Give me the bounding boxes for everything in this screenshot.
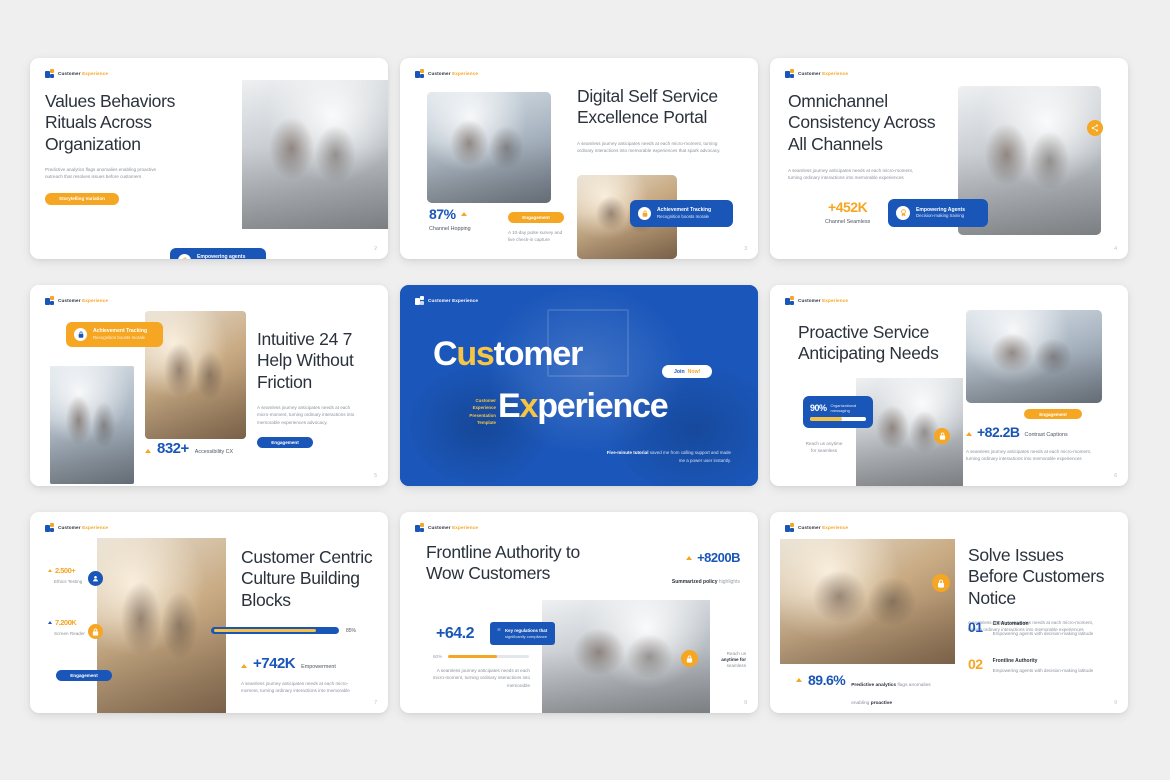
logo-word-customer: Customer [58, 71, 81, 76]
slide-title: Intuitive 24 7 Help Without Friction [257, 329, 372, 393]
stat-value: +452K [825, 199, 870, 215]
logo-word-experience: Experience [452, 525, 478, 530]
list-title: CX Automation [993, 621, 1094, 627]
lock-icon [74, 328, 87, 341]
progress-row: 85% [211, 627, 356, 634]
logo-mark-icon [785, 296, 794, 305]
stat-summarized-policy: +8200B Summarized policy highlights [672, 550, 740, 588]
list-number: 01 [968, 620, 983, 634]
cover-headline-line2: Experience [498, 390, 667, 422]
achievement-tracking-card[interactable]: Achievement Tracking Recognition boosts … [66, 322, 163, 347]
trend-up-icon [48, 569, 52, 572]
page-number: 4 [1114, 246, 1117, 252]
page-number: 6 [1114, 473, 1117, 479]
logo-word-experience: Experience [82, 298, 108, 303]
stat-value: 832+ [157, 440, 189, 457]
logo-word-customer: Customer [58, 298, 81, 303]
headline2-part-3: perience [537, 387, 667, 425]
stat-label-bold: Summarized policy [672, 579, 718, 585]
logo-mark-icon [415, 523, 424, 532]
slide-digital-self-service[interactable]: Customer Experience Digital Self Service… [400, 58, 758, 259]
card-title: Empowering Agents [916, 207, 965, 214]
stat-label: Channel Seamless [825, 219, 870, 225]
logo-word-experience: Experience [822, 298, 848, 303]
list-desc: Empowering agents with decision-making l… [993, 630, 1094, 637]
side-line-0: Customer [458, 397, 496, 404]
slide-cover[interactable]: Customer Experience Customer Experience … [400, 285, 758, 486]
card-title: Achievement Tracking [657, 207, 711, 214]
logo-word-customer: Customer [798, 525, 821, 530]
lock-icon[interactable] [88, 624, 103, 639]
progress-percent: 85% [346, 628, 356, 634]
stat-value-main: +64.2 [436, 625, 474, 643]
stat-value: 87% [429, 206, 456, 222]
logo-word-experience: Experience [452, 71, 478, 76]
logo-word-customer: Customer [58, 525, 81, 530]
key-regulations-card[interactable]: “ Key regulations that significantly com… [490, 622, 555, 645]
slide-photo-secondary [50, 366, 134, 484]
engagement-button[interactable]: Engagement [257, 437, 313, 448]
logo-mark-icon [45, 296, 54, 305]
lock-icon[interactable] [932, 574, 950, 592]
stat-label-bold2: proactive [871, 701, 892, 706]
brand-logo: Customer Experience [415, 69, 478, 78]
progress-bar [810, 417, 866, 420]
share-icon[interactable] [1087, 120, 1103, 136]
slide-photo-top [966, 310, 1102, 403]
card-title: Key regulations that [505, 628, 547, 634]
award-icon [896, 206, 910, 220]
slide-photo-primary [427, 92, 551, 203]
brand-logo: Customer Experience [785, 523, 848, 532]
brand-logo: Customer Experience [45, 69, 108, 78]
stat-channel-hopping: 87% Channel Hopping [429, 206, 471, 232]
join-now-button[interactable]: Join Now! [662, 365, 712, 378]
empowering-agents-card[interactable]: Empowering agents with decision latitude… [170, 248, 266, 259]
stat-label: Contrast Captions [1025, 432, 1068, 438]
headline-part-1: C [433, 335, 456, 373]
list-item[interactable]: 02 Frontline Authority Empowering agents… [968, 657, 1093, 674]
engagement-button[interactable]: Engagement [56, 670, 112, 681]
stat-value: 2.500+ [55, 566, 75, 575]
cover-side-caption: Customer Experience Presentation Templat… [458, 397, 496, 427]
logo-mark-icon [785, 523, 794, 532]
trend-up-icon [461, 212, 467, 216]
slide-title: Proactive Service Anticipating Needs [798, 322, 948, 365]
logo-mark-icon [415, 69, 424, 78]
lock-icon [178, 254, 191, 259]
stat-value: +8200B [697, 550, 740, 565]
slide-body: A seamless journey anticipates needs at … [577, 140, 725, 155]
slide-photo [780, 539, 955, 664]
lock-icon[interactable] [681, 650, 698, 667]
logo-word-experience: Experience [82, 71, 108, 76]
join-accent: Now! [688, 369, 701, 375]
stat-channel-seamless: +452K Channel Seamless [825, 199, 870, 225]
card-subtitle: Recognition boosts morale [93, 335, 147, 341]
logo-word-experience: Experience [82, 525, 108, 530]
user-icon[interactable] [88, 571, 103, 586]
progress-bar [211, 627, 339, 634]
headline2-part-2: x [519, 387, 537, 425]
slide-title: Values Behaviors Rituals Across Organiza… [45, 91, 195, 155]
card-title: Achievement Tracking [93, 328, 147, 335]
stat-label-bold: Predictive analytics [851, 683, 896, 688]
stat-value: 7.200K [55, 618, 76, 627]
logo-mark-icon [785, 69, 794, 78]
trend-up-icon [241, 664, 247, 668]
slide-body: A seamless journey anticipates needs at … [241, 680, 366, 695]
slide-title: Customer Centric Culture Building Blocks [241, 547, 376, 611]
slide-frontline-authority[interactable]: Customer Experience Frontline Authority … [400, 512, 758, 713]
logo-word-customer: Customer [798, 298, 821, 303]
brand-logo: Customer Experience [785, 296, 848, 305]
side-line-2: Presentation [458, 412, 496, 419]
stat-value: +742K [253, 655, 295, 672]
trend-up-icon [145, 449, 151, 453]
slide-grid: Customer Experience Values Behaviors Rit… [0, 0, 1170, 780]
cover-headline-line1: Customer [433, 338, 582, 370]
list-desc: Empowering agents with decision-making l… [993, 667, 1094, 674]
page-number: 9 [1114, 700, 1117, 706]
card-percent: 90% [810, 403, 827, 413]
logo-word-customer: Customer [798, 71, 821, 76]
engagement-pill[interactable]: Engagement [1024, 409, 1082, 419]
join-label: Join [674, 369, 685, 375]
footer-rest: saved me from calling support and made m… [648, 450, 731, 462]
list-item[interactable]: 01 CX Automation Empowering agents with … [968, 620, 1093, 637]
stat-label: Accessibility CX [195, 449, 233, 455]
stat-value: 89.6% [808, 672, 845, 688]
slide-title: Frontline Authority to Wow Customers [426, 542, 606, 585]
side-note-line-3: seamless [710, 662, 746, 669]
trend-up-icon [686, 556, 692, 560]
brand-logo: Customer Experience [45, 523, 108, 532]
logo-word-customer: Customer [428, 525, 451, 530]
page-number: 3 [744, 246, 747, 252]
logo-word-experience: Experience [822, 71, 848, 76]
engagement-pill[interactable]: Engagement [508, 212, 564, 223]
side-line-3: Template [458, 419, 496, 426]
slide-solve-issues[interactable]: Customer Experience Solve Issues Before … [770, 512, 1128, 713]
lock-icon[interactable] [934, 428, 950, 444]
brand-logo: Customer Experience [415, 296, 478, 305]
brand-logo: Customer Experience [45, 296, 108, 305]
logo-mark-icon [45, 523, 54, 532]
storytelling-button[interactable]: Storytelling Variation [45, 193, 119, 205]
stat-label-rest: highlights [717, 579, 740, 585]
headline-part-3: tomer [494, 335, 582, 373]
page-number: 8 [744, 700, 747, 706]
logo-mark-icon [415, 296, 424, 305]
logo-word-experience: Experience [822, 525, 848, 530]
progress-row: 60% [433, 654, 529, 659]
list-number: 02 [968, 657, 983, 671]
side-note: Reach us anytime for seamless [710, 650, 746, 670]
slide-photo [97, 538, 226, 713]
slide-proactive-service[interactable]: Customer Experience Proactive Service An… [770, 285, 1128, 486]
stat-contrast-captions: +82.2B Contrast Captions [966, 424, 1068, 440]
stat-empowerment: +742K Empowerment [241, 655, 336, 672]
slide-note-left: Reach us anytime for seamless [803, 440, 845, 455]
side-line-1: Experience [458, 404, 496, 411]
progress-percent: 60% [433, 654, 442, 659]
list-title: Frontline Authority [993, 658, 1094, 664]
quote-icon: “ [497, 628, 501, 636]
slide-title: Digital Self Service Excellence Portal [577, 86, 732, 129]
card-subtitle: messaging [831, 408, 857, 413]
brand-logo: Customer Experience [785, 69, 848, 78]
empowering-agents-card[interactable]: Empowering Agents Decision-making traini… [888, 199, 988, 227]
card-subtitle: Recognition boosts morale [657, 214, 711, 220]
slide-title: Omnichannel Consistency Across All Chann… [788, 91, 950, 155]
slide-photo [242, 80, 388, 229]
slide-body: A seamless journey anticipates needs at … [430, 667, 530, 689]
stat-label: Channel Hopping [429, 226, 471, 232]
headline2-part-1: E [498, 387, 519, 425]
slide-body: A seamless journey anticipates needs at … [257, 404, 357, 426]
trend-up-icon [796, 678, 802, 682]
stat-label: Empowerment [301, 664, 336, 670]
slide-note: A 10-day pulse survey and live check-in … [508, 229, 568, 244]
cover-footer-quote: Five-minute tutorial saved me from calli… [606, 449, 731, 464]
slide-body: A seamless journey anticipates needs at … [788, 167, 918, 182]
card-subtitle: Decision-making training [916, 213, 965, 219]
logo-word-customer: Customer [428, 71, 451, 76]
side-note-line-1: Reach us [710, 650, 746, 657]
slide-intuitive-help[interactable]: Customer Experience Achievement Tracking… [30, 285, 388, 486]
stat-value: +82.2B [977, 424, 1020, 440]
stat-predictive-analytics: 89.6% Predictive analytics flags anomali… [796, 672, 931, 709]
trend-up-icon [48, 621, 52, 624]
progress-bar [448, 655, 529, 658]
page-number: 2 [374, 246, 377, 252]
slide-values-behaviors[interactable]: Customer Experience Values Behaviors Rit… [30, 58, 388, 259]
headline-part-2: us [456, 335, 493, 373]
achievement-tracking-card[interactable]: Achievement Tracking Recognition boosts … [630, 200, 733, 227]
slide-title: Solve Issues Before Customers Notice [968, 545, 1114, 609]
slide-omnichannel-consistency[interactable]: Customer Experience Omnichannel Consiste… [770, 58, 1128, 259]
card-subtitle: significantly compliance [505, 634, 547, 639]
slide-body: Predictive analytics flags anomalies ena… [45, 166, 163, 181]
card-title: Empowering agents [197, 254, 245, 259]
slide-customer-centric-culture[interactable]: Customer Experience 2.500+ Ethics Testin… [30, 512, 388, 713]
footer-bold: Five-minute tutorial [607, 450, 649, 455]
slide-body: A seamless journey anticipates needs at … [966, 448, 1102, 463]
page-number: 5 [374, 473, 377, 479]
lock-icon [638, 207, 651, 220]
page-number: 7 [374, 700, 377, 706]
logo-text: Customer Experience [428, 298, 478, 303]
organizational-messaging-card[interactable]: 90% Organizational messaging [803, 396, 873, 428]
logo-mark-icon [45, 69, 54, 78]
trend-up-icon [966, 432, 972, 436]
stat-accessibility-cx: 832+ Accessibility CX [145, 440, 233, 457]
brand-logo: Customer Experience [415, 523, 478, 532]
